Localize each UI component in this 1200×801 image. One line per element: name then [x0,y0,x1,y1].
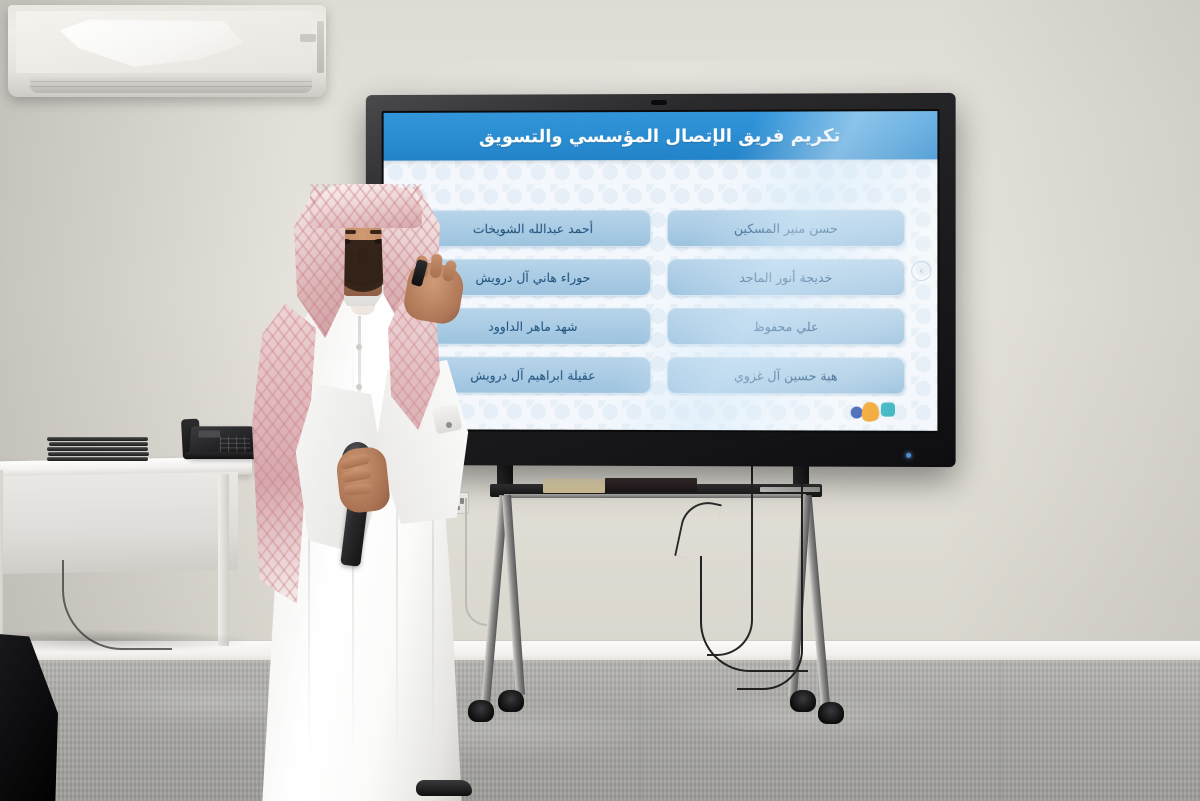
thobe-button [356,384,362,390]
ac-front-panel [16,11,312,73]
presenter [238,184,488,801]
shoe [416,780,472,796]
photo-scene: تكريم فريق الإتصال المؤسسي والتسويق أحمد… [0,0,1200,801]
cuff-button [446,422,452,428]
brand-logo-mark [847,396,901,422]
stack-of-folders [47,437,148,460]
sleeve-cuff [432,404,463,435]
thobe-button [356,344,362,350]
desk-apron [0,472,238,574]
name-card: هبة حسين آل غزوي [667,357,905,395]
hand-holding-microphone [335,446,391,515]
name-card: علي محفوظ [667,308,905,345]
desk-leg-right [218,474,229,646]
cart-caster-left-back [498,690,524,712]
phone-screen [198,431,220,438]
ac-side-panel [317,21,324,73]
desk-shadow [0,630,250,652]
cart-caster-right-back [790,690,816,712]
slide-title: تكريم فريق الإتصال المؤسسي والتسويق [479,125,840,147]
cart-caster-right [818,702,844,724]
name-card: حسن منير المسكين [667,210,905,247]
desk-leg-left [0,470,3,648]
shelf-item-cream [543,479,605,493]
carpet-tile-seam [640,660,641,801]
hand-raised [401,260,466,327]
slide-next-arrow-icon[interactable]: ‹ [911,261,931,281]
names-column-left: حسن منير المسكين خديجة أنور الماجد علي م… [667,210,905,395]
ac-brand-label [154,33,156,40]
name-card: خديجة أنور الماجد [667,259,905,296]
names-grid: أحمد عبدالله الشويخات حوراء هاني آل دروي… [415,210,905,395]
carpet-tile-seam [1000,660,1001,801]
ac-pipe [300,34,316,42]
hanging-cable-c [700,556,808,672]
shemagh-crown [310,184,422,228]
display-camera-icon [651,100,667,105]
display-brand-logo [899,452,901,459]
ac-louver [30,77,312,93]
power-led-indicator [906,453,911,458]
air-conditioner-unit [8,5,326,97]
slide-title-bar: تكريم فريق الإتصال المؤسسي والتسويق [384,111,938,161]
shelf-item-dark [605,478,697,492]
ac-glare [54,19,254,71]
